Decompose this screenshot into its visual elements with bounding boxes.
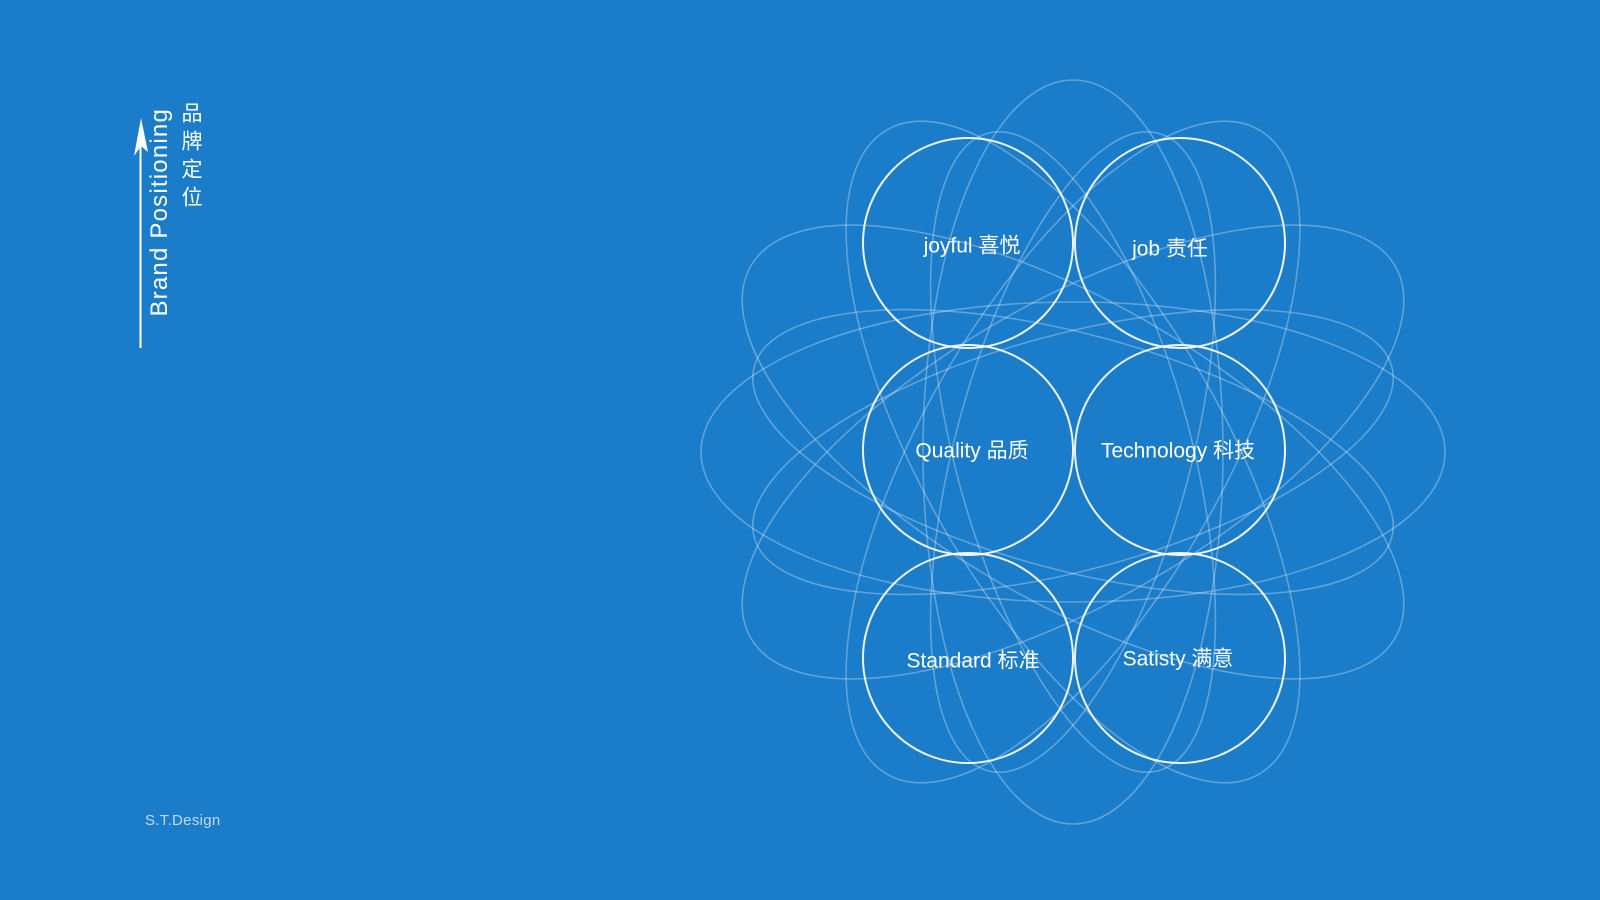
page-title-zh: 品牌定位 — [180, 102, 201, 214]
page-title-block: Brand Positioning 品牌定位 — [130, 100, 260, 360]
concept-label-group: joyful 喜悦 job 责任 Quality 品质 Technology 科… — [906, 235, 1255, 673]
concept-label-standard: Standard 标准 — [906, 650, 1039, 673]
title-vertical-group: Brand Positioning 品牌定位 — [148, 100, 201, 350]
concept-label-technology: Technology 科技 — [1101, 440, 1255, 463]
concept-label-joyful: joyful 喜悦 — [923, 235, 1021, 258]
footer-brand-label: S.T.Design — [145, 812, 221, 829]
concept-label-job: job 责任 — [1131, 238, 1208, 261]
concept-label-quality: Quality 品质 — [915, 440, 1028, 463]
slide-canvas: joyful 喜悦 job 责任 Quality 品质 Technology 科… — [0, 0, 1600, 900]
page-title-en: Brand Positioning — [148, 108, 172, 317]
concept-label-satisty: Satisty 满意 — [1123, 648, 1234, 671]
